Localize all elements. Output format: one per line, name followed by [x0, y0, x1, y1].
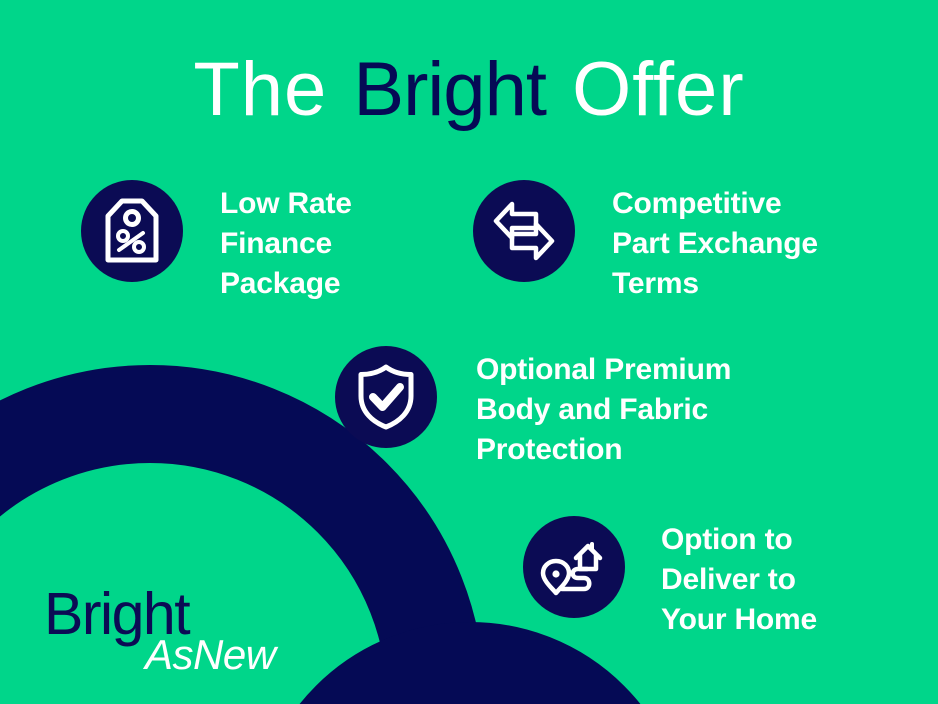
feature-label: Competitive Part Exchange Terms	[612, 180, 818, 304]
feature-label: Option to Deliver to Your Home	[661, 516, 817, 640]
badge-circle	[81, 180, 183, 282]
badge-circle	[473, 180, 575, 282]
badge-circle	[523, 516, 625, 618]
logo-secondary-text: AsNew	[145, 632, 276, 678]
brand-logo: Bright AsNew	[44, 583, 304, 683]
exchange-arrows-icon	[492, 200, 556, 262]
badge-circle	[335, 346, 437, 448]
title-part-after: Offer	[550, 47, 745, 132]
feature-item-home-delivery: Option to Deliver to Your Home	[523, 516, 817, 640]
shield-check-icon	[357, 364, 415, 430]
page-title: The Bright Offer	[0, 44, 938, 136]
feature-label: Low Rate Finance Package	[220, 180, 352, 304]
title-part-before: The	[193, 47, 349, 132]
feature-label: Optional Premium Body and Fabric Protect…	[476, 346, 731, 470]
title-brand-word: Bright	[349, 47, 550, 132]
feature-item-part-exchange: Competitive Part Exchange Terms	[473, 180, 818, 304]
offer-graphic: The Bright Offer Low Rate Finance Packag…	[0, 0, 938, 704]
price-tag-percent-icon	[102, 198, 162, 264]
feature-item-low-rate-finance: Low Rate Finance Package	[81, 180, 352, 304]
map-pin-road-house-icon	[540, 536, 608, 598]
feature-item-body-fabric-protection: Optional Premium Body and Fabric Protect…	[335, 346, 731, 470]
